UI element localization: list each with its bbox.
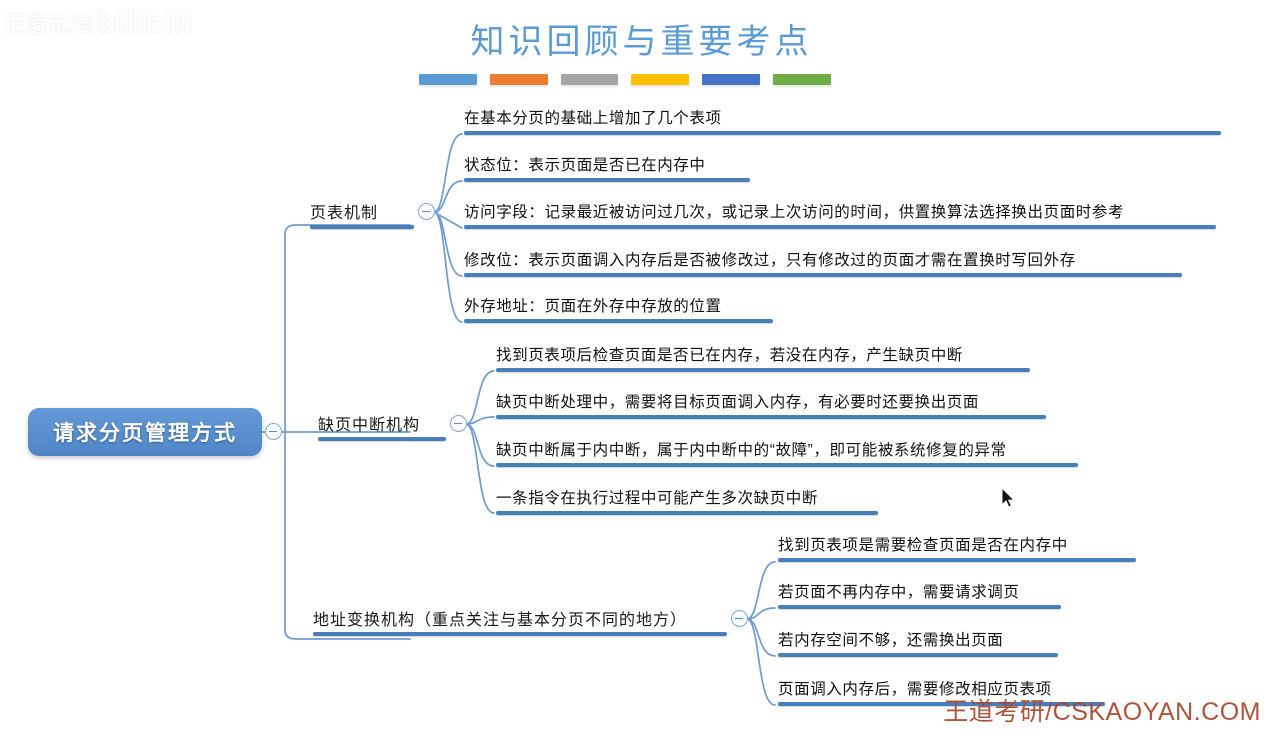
branch-underline (313, 632, 727, 636)
leaf-label: 缺页中断属于内中断，属于内中断中的“故障”，即可能被系统修复的异常 (496, 442, 1007, 459)
leaf-label: 状态位：表示页面是否已在内存中 (464, 157, 706, 174)
leaf-node[interactable]: 缺页中断属于内中断，属于内中断中的“故障”，即可能被系统修复的异常 (496, 438, 1078, 467)
leaf-underline (778, 653, 1058, 657)
collapse-toggle-page-fault[interactable] (450, 415, 467, 432)
leaf-label: 修改位：表示页面调入内存后是否被修改过，只有修改过的页面才需在置换时写回外存 (464, 252, 1076, 269)
leaf-underline (496, 511, 878, 515)
leaf-underline (496, 463, 1078, 467)
branch-node-page-fault[interactable]: 缺页中断机构 (318, 411, 446, 441)
leaf-label: 若页面不再内存中，需要请求调页 (778, 584, 1020, 601)
leaf-underline (464, 273, 1182, 277)
leaf-underline (464, 319, 773, 323)
leaf-underline (496, 415, 1046, 419)
leaf-node[interactable]: 若内存空间不够，还需换出页面 (778, 628, 1058, 657)
slide-canvas: 王道论坛bilibili 知识回顾与重要考点 (0, 0, 1283, 730)
mindmap-root-label: 请求分页管理方式 (53, 417, 237, 447)
branch-underline (310, 225, 414, 229)
collapse-toggle-address-translation[interactable] (731, 610, 748, 627)
branch-node-address-translation[interactable]: 地址变换机构（重点关注与基本分页不同的地方） (313, 606, 727, 636)
branch-underline (318, 437, 446, 441)
leaf-node[interactable]: 在基本分页的基础上增加了几个表项 (464, 106, 1221, 135)
mindmap-root-node[interactable]: 请求分页管理方式 (28, 408, 262, 456)
leaf-underline (464, 225, 1216, 229)
collapse-toggle-root[interactable] (265, 423, 282, 440)
collapse-toggle-page-table[interactable] (418, 203, 435, 220)
leaf-node[interactable]: 缺页中断处理中，需要将目标页面调入内存，有必要时还要换出页面 (496, 390, 1046, 419)
leaf-label: 外存地址：页面在外存中存放的位置 (464, 298, 722, 315)
leaf-label: 找到页表项是需要检查页面是否在内存中 (778, 537, 1068, 554)
leaf-underline (464, 178, 750, 182)
leaf-node[interactable]: 若页面不再内存中，需要请求调页 (778, 580, 1061, 609)
branch-label-page-table: 页表机制 (310, 205, 378, 222)
site-watermark: 王道考研/CSKAOYAN.COM (943, 692, 1261, 728)
leaf-label: 在基本分页的基础上增加了几个表项 (464, 110, 722, 127)
leaf-label: 找到页表项后检查页面是否已在内存，若没在内存，产生缺页中断 (496, 347, 963, 364)
leaf-underline (778, 605, 1061, 609)
leaf-underline (496, 368, 1030, 372)
leaf-node[interactable]: 修改位：表示页面调入内存后是否被修改过，只有修改过的页面才需在置换时写回外存 (464, 248, 1182, 277)
leaf-underline (778, 558, 1136, 562)
leaf-node[interactable]: 找到页表项是需要检查页面是否在内存中 (778, 533, 1136, 562)
leaf-underline (464, 131, 1221, 135)
leaf-label: 访问字段：记录最近被访问过几次，或记录上次访问的时间，供置换算法选择换出页面时参… (464, 204, 1124, 221)
leaf-label: 一条指令在执行过程中可能产生多次缺页中断 (496, 490, 818, 507)
leaf-node[interactable]: 状态位：表示页面是否已在内存中 (464, 153, 750, 182)
branch-label-page-fault: 缺页中断机构 (318, 417, 420, 434)
branch-node-page-table[interactable]: 页表机制 (310, 199, 414, 229)
leaf-label: 缺页中断处理中，需要将目标页面调入内存，有必要时还要换出页面 (496, 394, 979, 411)
leaf-node[interactable]: 找到页表项后检查页面是否已在内存，若没在内存，产生缺页中断 (496, 343, 1030, 372)
leaf-label: 若内存空间不够，还需换出页面 (778, 632, 1003, 649)
branch-label-address-translation: 地址变换机构（重点关注与基本分页不同的地方） (313, 612, 687, 629)
leaf-node[interactable]: 一条指令在执行过程中可能产生多次缺页中断 (496, 486, 878, 515)
mouse-cursor-icon (1001, 487, 1015, 508)
leaf-node[interactable]: 外存地址：页面在外存中存放的位置 (464, 294, 773, 323)
leaf-node[interactable]: 访问字段：记录最近被访问过几次，或记录上次访问的时间，供置换算法选择换出页面时参… (464, 200, 1216, 229)
